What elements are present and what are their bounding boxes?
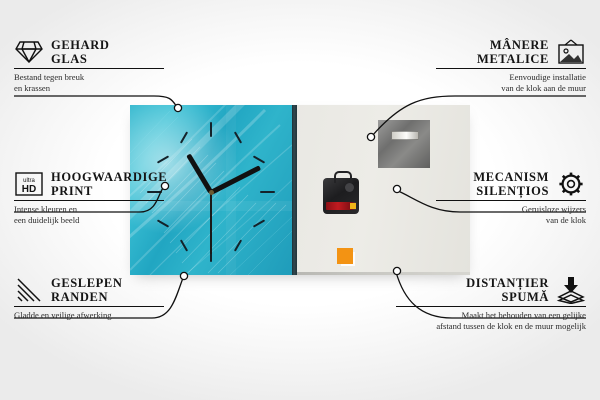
- callout-rule: [14, 306, 164, 307]
- callout-title: DISTANȚIER SPUMĂ: [466, 276, 549, 304]
- svg-text:HD: HD: [22, 184, 36, 195]
- callout-subtitle: Intense kleuren en een duidelijk beeld: [14, 204, 164, 225]
- callout-geslepen-randen[interactable]: GESLEPEN RANDEN Gladde en veilige afwerk…: [14, 276, 164, 321]
- connector-dot-mecanism-silentios: [393, 185, 400, 192]
- callout-gehard-glas[interactable]: GEHARD GLAS Bestand tegen breuk en krass…: [14, 38, 164, 93]
- diamond-icon: [14, 39, 44, 65]
- callout-title: GESLEPEN RANDEN: [51, 276, 123, 304]
- callout-subtitle: Gladde en veilige afwerking: [14, 310, 164, 321]
- callout-rule: [14, 68, 164, 69]
- callout-subtitle: Geruisloze wijzers van de klok: [436, 204, 586, 225]
- callout-rule: [436, 68, 586, 69]
- callout-rule: [436, 200, 586, 201]
- callout-hoogwaardige-print[interactable]: ultra HD HOOGWAARDIGE PRINT Intense kleu…: [14, 170, 164, 225]
- infographic-canvas: GEHARD GLAS Bestand tegen breuk en krass…: [0, 0, 600, 400]
- callout-subtitle: Maakt het behouden van een gelijke afsta…: [396, 310, 586, 331]
- callout-title: HOOGWAARDIGE PRINT: [51, 170, 167, 198]
- callout-subtitle: Bestand tegen breuk en krassen: [14, 72, 164, 93]
- ultra-hd-icon: ultra HD: [14, 171, 44, 197]
- spacer-arrow-icon: [556, 276, 586, 304]
- callout-subtitle: Eenvoudige installatie van de klok aan d…: [436, 72, 586, 93]
- callout-distantier-spuma[interactable]: DISTANȚIER SPUMĂ Maakt het behouden van …: [396, 276, 586, 331]
- wall-hanging-frame-icon: [556, 39, 586, 65]
- connector-dot-gehard-glas: [174, 104, 181, 111]
- callout-mecanism-silentios[interactable]: MECANISM SILENȚIOS Geruisloze wijz: [436, 170, 586, 225]
- connector-dot-geslepen-randen: [180, 272, 187, 279]
- callout-title: MECANISM SILENȚIOS: [473, 170, 549, 198]
- callout-title: MÂNERE METALICE: [477, 38, 549, 66]
- callout-rule: [14, 200, 164, 201]
- gear-icon: [556, 171, 586, 197]
- connector-dot-manere-metalice: [367, 133, 374, 140]
- callout-rule: [396, 306, 586, 307]
- beveled-edges-icon: [14, 277, 44, 303]
- connector-dot-distantier-spuma: [393, 267, 400, 274]
- callout-title: GEHARD GLAS: [51, 38, 109, 66]
- callout-manere-metalice[interactable]: MÂNERE METALICE Eenvoudige installatie v…: [436, 38, 586, 93]
